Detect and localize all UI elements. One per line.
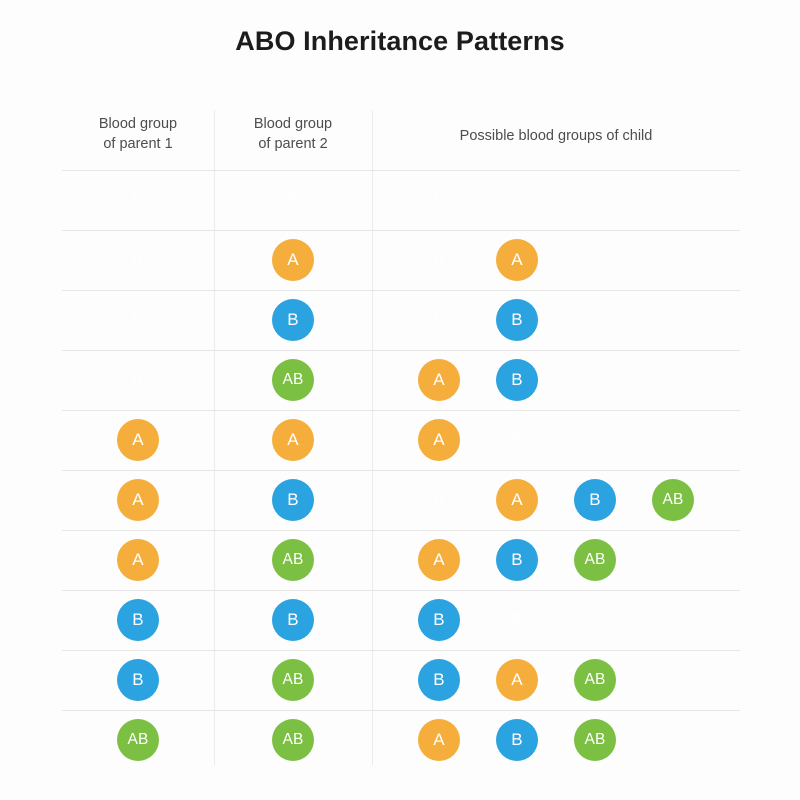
- cell-parent1: A: [62, 530, 214, 590]
- cell-child: 0A: [372, 230, 740, 290]
- parent1-groups: AB: [62, 719, 214, 761]
- parent1-groups: B: [62, 659, 214, 701]
- parent2-groups: AB: [214, 719, 372, 761]
- blood-group-circle-ab-parent2: AB: [272, 539, 314, 581]
- cell-parent1: 0: [62, 170, 214, 230]
- blood-group-circle-a-child: A: [496, 479, 538, 521]
- blood-group-circle-a-parent1: A: [117, 539, 159, 581]
- table-row: BBB0: [0, 590, 800, 650]
- blood-group-circle-0-parent1: 0: [117, 299, 159, 341]
- table-row: 0ABAB: [0, 350, 800, 410]
- cell-parent1: AB: [62, 710, 214, 770]
- parent1-groups: 0: [62, 299, 214, 341]
- blood-group-circle-b-child: B: [496, 359, 538, 401]
- child-groups: 0A: [418, 239, 538, 281]
- child-groups: A0: [418, 419, 538, 461]
- column-header-parent2-line1: Blood group: [214, 114, 372, 134]
- blood-group-circle-0-parent1: 0: [117, 359, 159, 401]
- blood-group-circle-b-child: B: [418, 659, 460, 701]
- table-row: 0B0B: [0, 290, 800, 350]
- blood-group-circle-b-parent1: B: [117, 659, 159, 701]
- cell-child: ABAB: [372, 530, 740, 590]
- child-groups: 0ABAB: [418, 479, 694, 521]
- parent2-groups: 0: [214, 179, 372, 221]
- cell-parent2: AB: [214, 530, 372, 590]
- child-groups: B0: [418, 599, 538, 641]
- cell-parent2: B: [214, 470, 372, 530]
- table-row: AAA0: [0, 410, 800, 470]
- blood-group-circle-ab-child: AB: [574, 719, 616, 761]
- child-groups: 0B: [418, 299, 538, 341]
- blood-group-circle-0-parent1: 0: [117, 239, 159, 281]
- blood-group-circle-a-parent1: A: [117, 419, 159, 461]
- child-groups: ABAB: [418, 719, 616, 761]
- column-header-parent2-line2: of parent 2: [214, 134, 372, 154]
- blood-group-circle-0-child: 0: [418, 239, 460, 281]
- blood-group-circle-a-parent2: A: [272, 239, 314, 281]
- child-groups: AB: [418, 359, 538, 401]
- cell-parent2: AB: [214, 350, 372, 410]
- blood-group-circle-0-child: 0: [496, 419, 538, 461]
- child-groups: ABAB: [418, 539, 616, 581]
- parent2-groups: A: [214, 419, 372, 461]
- table-row: AB0ABAB: [0, 470, 800, 530]
- blood-group-circle-a-child: A: [496, 659, 538, 701]
- blood-group-circle-b-parent2: B: [272, 599, 314, 641]
- blood-group-circle-ab-child: AB: [574, 659, 616, 701]
- blood-group-circle-a-parent2: A: [272, 419, 314, 461]
- cell-parent1: 0: [62, 230, 214, 290]
- parent1-groups: 0: [62, 359, 214, 401]
- cell-parent1: A: [62, 470, 214, 530]
- cell-parent2: B: [214, 590, 372, 650]
- blood-group-circle-ab-parent2: AB: [272, 659, 314, 701]
- cell-parent2: 0: [214, 170, 372, 230]
- blood-group-circle-ab-child: AB: [574, 539, 616, 581]
- blood-group-circle-0-child: 0: [418, 479, 460, 521]
- blood-group-circle-b-child: B: [574, 479, 616, 521]
- blood-group-circle-a-child: A: [418, 539, 460, 581]
- cell-parent2: AB: [214, 650, 372, 710]
- blood-group-circle-0-parent2: 0: [272, 179, 314, 221]
- blood-group-circle-ab-parent1: AB: [117, 719, 159, 761]
- parent2-groups: B: [214, 299, 372, 341]
- parent1-groups: A: [62, 419, 214, 461]
- cell-child: 0B: [372, 290, 740, 350]
- column-header-parent1-line2: of parent 1: [62, 134, 214, 154]
- cell-parent1: A: [62, 410, 214, 470]
- parent2-groups: A: [214, 239, 372, 281]
- blood-group-circle-a-child: A: [418, 719, 460, 761]
- child-groups: BAAB: [418, 659, 616, 701]
- cell-child: B0: [372, 590, 740, 650]
- table-row: ABABABAB: [0, 710, 800, 770]
- cell-child: AB: [372, 350, 740, 410]
- blood-group-circle-a-parent1: A: [117, 479, 159, 521]
- cell-parent2: A: [214, 230, 372, 290]
- blood-group-circle-b-parent1: B: [117, 599, 159, 641]
- table-row: AABABAB: [0, 530, 800, 590]
- cell-child: 0ABAB: [372, 470, 740, 530]
- column-header-parent2: Blood group of parent 2: [214, 114, 372, 154]
- parent1-groups: A: [62, 479, 214, 521]
- cell-child: 0: [372, 170, 740, 230]
- parent1-groups: 0: [62, 179, 214, 221]
- blood-group-circle-ab-parent2: AB: [272, 359, 314, 401]
- blood-group-circle-b-child: B: [496, 299, 538, 341]
- cell-child: A0: [372, 410, 740, 470]
- abo-inheritance-infographic: ABO Inheritance Patterns Blood group of …: [0, 0, 800, 800]
- cell-parent1: B: [62, 590, 214, 650]
- parent2-groups: AB: [214, 359, 372, 401]
- column-header-child: Possible blood groups of child: [372, 126, 740, 146]
- blood-group-circle-b-child: B: [496, 719, 538, 761]
- cell-parent1: 0: [62, 350, 214, 410]
- table-row: 0A0A: [0, 230, 800, 290]
- blood-group-circle-ab-child: AB: [652, 479, 694, 521]
- blood-group-circle-a-child: A: [418, 359, 460, 401]
- blood-group-circle-b-child: B: [418, 599, 460, 641]
- column-header-parent1: Blood group of parent 1: [62, 114, 214, 154]
- blood-group-circle-0-child: 0: [418, 179, 460, 221]
- blood-group-circle-0-child: 0: [496, 599, 538, 641]
- parent2-groups: AB: [214, 539, 372, 581]
- cell-parent2: AB: [214, 710, 372, 770]
- table-row: 000: [0, 170, 800, 230]
- cell-child: BAAB: [372, 650, 740, 710]
- cell-parent1: B: [62, 650, 214, 710]
- blood-group-circle-a-child: A: [496, 239, 538, 281]
- parent1-groups: 0: [62, 239, 214, 281]
- blood-group-circle-b-parent2: B: [272, 479, 314, 521]
- blood-group-circle-0-child: 0: [418, 299, 460, 341]
- cell-parent2: B: [214, 290, 372, 350]
- parent2-groups: B: [214, 599, 372, 641]
- blood-group-circle-ab-parent2: AB: [272, 719, 314, 761]
- inheritance-table: Blood group of parent 1 Blood group of p…: [0, 0, 800, 800]
- cell-parent2: A: [214, 410, 372, 470]
- parent2-groups: AB: [214, 659, 372, 701]
- blood-group-circle-0-parent1: 0: [117, 179, 159, 221]
- child-groups: 0: [418, 179, 460, 221]
- parent2-groups: B: [214, 479, 372, 521]
- cell-parent1: 0: [62, 290, 214, 350]
- column-header-parent1-line1: Blood group: [62, 114, 214, 134]
- table-row: BABBAAB: [0, 650, 800, 710]
- blood-group-circle-b-parent2: B: [272, 299, 314, 341]
- blood-group-circle-b-child: B: [496, 539, 538, 581]
- parent1-groups: B: [62, 599, 214, 641]
- cell-child: ABAB: [372, 710, 740, 770]
- blood-group-circle-a-child: A: [418, 419, 460, 461]
- parent1-groups: A: [62, 539, 214, 581]
